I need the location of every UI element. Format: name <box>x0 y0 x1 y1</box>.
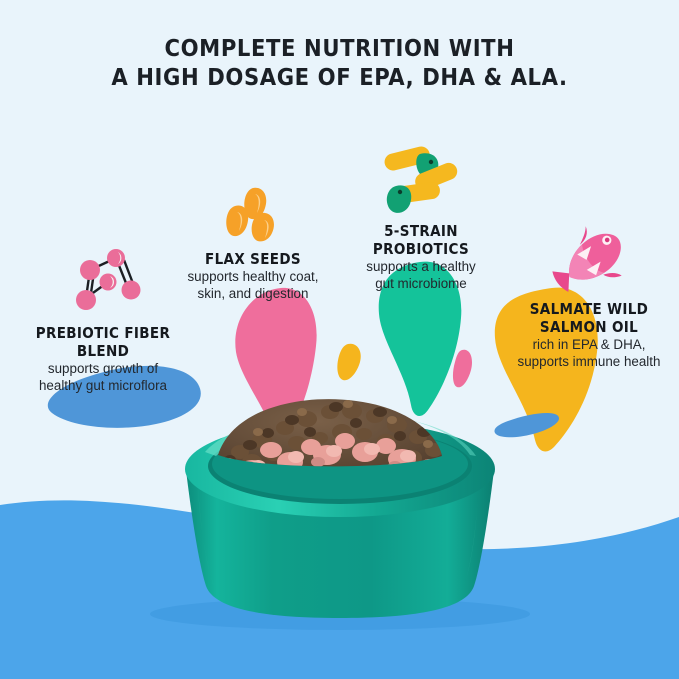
flax-seeds-icon <box>217 182 289 246</box>
feature-salmate-wild-salmon-oil: SALMATE WILD SALMON OIL rich in EPA & DH… <box>500 224 678 370</box>
feature-title: SALMATE WILD SALMON OIL <box>500 300 678 336</box>
infographic-canvas: COMPLETE NUTRITION WITH A HIGH DOSAGE OF… <box>0 0 679 679</box>
feature-description: supports a healthy gut microbiome <box>340 259 502 292</box>
feature-flax-seeds: FLAX SEEDS supports healthy coat, skin, … <box>165 182 341 302</box>
probiotic-capsules-icon <box>374 142 466 218</box>
molecule-icon <box>66 248 144 318</box>
feature-title: PREBIOTIC FIBER BLEND <box>8 324 198 360</box>
feature-title: 5-STRAIN PROBIOTICS <box>340 222 502 258</box>
fish-icon <box>548 224 632 298</box>
feature-description: rich in EPA & DHA, supports immune healt… <box>500 337 678 370</box>
feature-description: supports growth of healthy gut microflor… <box>8 361 198 394</box>
feature-description: supports healthy coat, skin, and digesti… <box>165 269 341 302</box>
feature-5-strain-probiotics: 5-STRAIN PROBIOTICS supports a healthy g… <box>340 142 502 292</box>
feature-title: FLAX SEEDS <box>165 250 341 268</box>
